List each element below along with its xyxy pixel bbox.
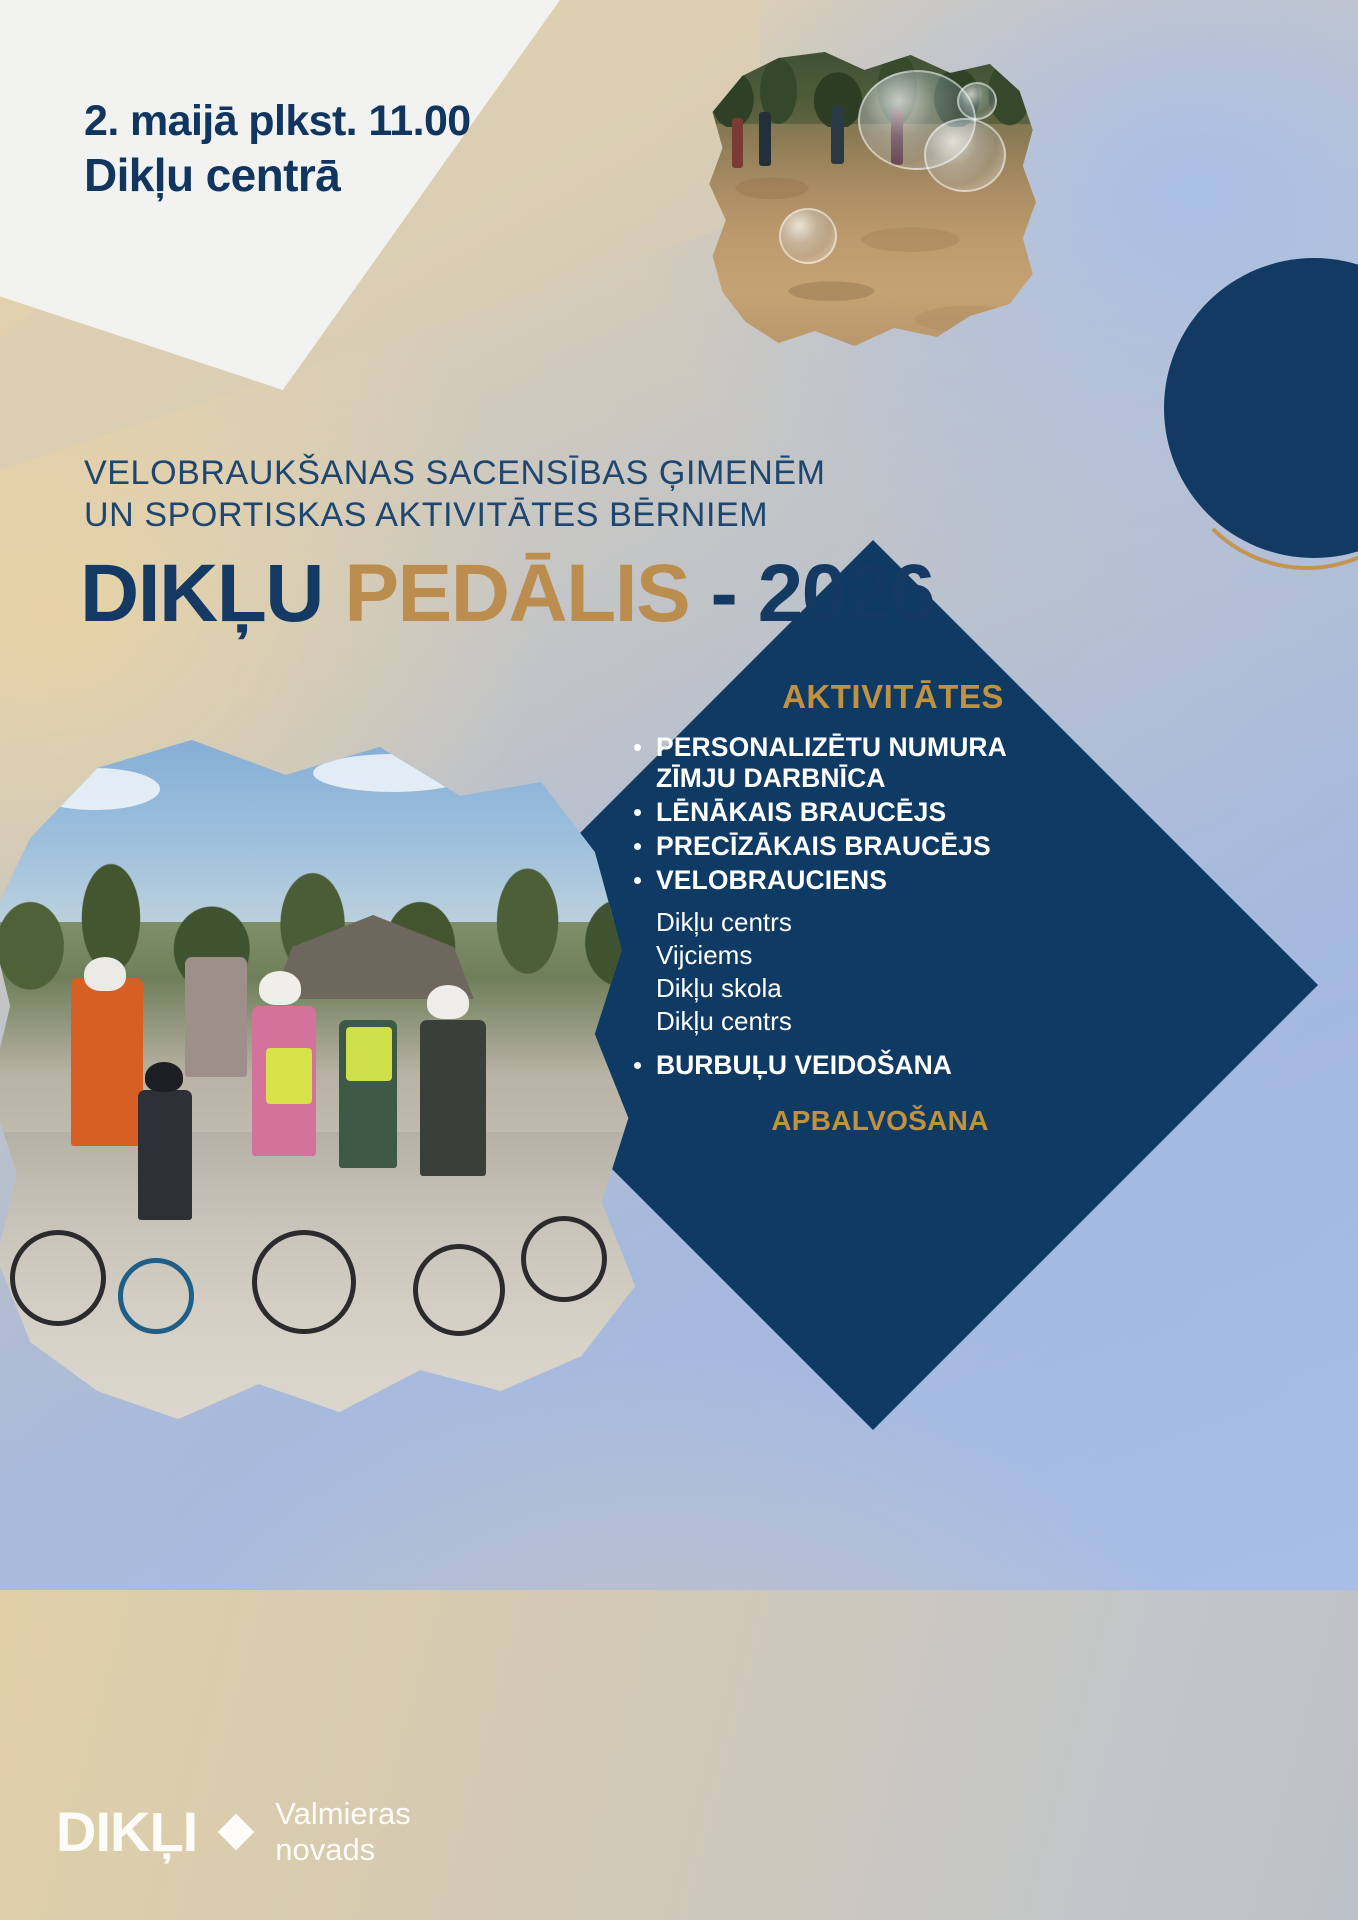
event-date-time: 2. maijā plkst. 11.00: [84, 95, 471, 147]
bullet-dot-icon: [634, 744, 641, 751]
activity-item-bubble-making-label: BURBUĻU VEIDOŠANA: [656, 1050, 952, 1080]
helmet-white-2: [259, 971, 301, 1005]
activity-item-bubble-making: BURBUĻU VEIDOŠANA: [630, 1050, 1100, 1081]
activity-item-slowest-rider: LĒNĀKAIS BRAUCĒJS: [630, 797, 1100, 828]
activities-heading: AKTIVITĀTES: [630, 678, 1100, 716]
helmet-white-3: [427, 985, 469, 1019]
activity-item-most-precise-rider: PRECĪZĀKAIS BRAUCĒJS: [630, 831, 1100, 862]
rider-adult-orange: [71, 978, 143, 1146]
activity-item-slowest-rider-label: LĒNĀKAIS BRAUCĒJS: [656, 797, 946, 827]
bubble-activity-photo: [706, 52, 1036, 352]
logo-subtitle-line2: novads: [275, 1832, 411, 1868]
event-location: Dikļu centrā: [84, 147, 471, 203]
safety-vest-yellow-2: [346, 1027, 392, 1081]
route-stop-1: Dikļu centrs: [656, 906, 1100, 939]
bicycle-wheel-3: [252, 1230, 356, 1334]
bullet-dot-icon: [634, 809, 641, 816]
rider-adult-grey: [185, 957, 247, 1077]
bullet-dot-icon: [634, 877, 641, 884]
route-stop-3: Dikļu skola: [656, 972, 1100, 1005]
logo-diamond-icon: [218, 1814, 255, 1851]
title-part-name: PEDĀLIS: [344, 548, 689, 639]
bullet-dot-icon: [634, 1062, 641, 1069]
bicycle-wheel-1: [10, 1230, 106, 1326]
title-part-year: - 2026: [689, 548, 934, 639]
photo-person-2: [831, 106, 844, 164]
subtitle-line-1: VELOBRAUKŠANAS SACENSĪBAS ĢIMENĒM: [84, 452, 826, 494]
rider-child-1: [138, 1090, 192, 1220]
activity-item-bike-ride: VELOBRAUCIENS: [630, 865, 1100, 896]
activity-item-workshop-line1: PERSONALIZĒTU NUMURA: [656, 732, 1007, 762]
soap-bubble-small: [779, 208, 837, 264]
bicycle-wheel-4: [413, 1244, 505, 1336]
poster-canvas: 2. maijā plkst. 11.00 Dikļu centrā VELOB…: [0, 0, 1358, 1920]
safety-vest-yellow-1: [266, 1048, 312, 1104]
bike-ride-photo: [0, 740, 662, 1440]
subtitle-line-2: UN SPORTISKAS AKTIVITĀTES BĒRNIEM: [84, 494, 826, 536]
event-header: 2. maijā plkst. 11.00 Dikļu centrā: [84, 95, 471, 203]
bicycle-wheel-2: [118, 1258, 194, 1334]
activities-list: PERSONALIZĒTU NUMURA ZĪMJU DARBNĪCA LĒNĀ…: [630, 732, 1100, 896]
activities-content: AKTIVITĀTES PERSONALIZĒTU NUMURA ZĪMJU D…: [630, 678, 1100, 1137]
title-part-place: DIKĻU: [80, 548, 344, 639]
route-stop-4: Dikļu centrs: [656, 1005, 1100, 1038]
helmet-white-1: [84, 957, 126, 991]
rider-camo-jacket: [420, 1020, 486, 1176]
activity-item-workshop-line2: ZĪMJU DARBNĪCA: [656, 763, 886, 793]
activity-item-most-precise-rider-label: PRECĪZĀKAIS BRAUCĒJS: [656, 831, 991, 861]
helmet-dark-child: [145, 1062, 183, 1092]
event-subtitle: VELOBRAUKŠANAS SACENSĪBAS ĢIMENĒM UN SPO…: [84, 452, 826, 536]
logo-subtitle-line1: Valmieras: [275, 1796, 411, 1832]
photo-person-4: [732, 118, 743, 168]
bottom-beige-band: [0, 1590, 1358, 1920]
soap-bubble-medium: [924, 118, 1006, 192]
page-title: DIKĻU PEDĀLIS - 2026: [80, 548, 934, 640]
logo-subtitle: Valmieras novads: [275, 1796, 411, 1868]
bullet-dot-icon: [634, 843, 641, 850]
soap-bubble-tiny: [957, 82, 997, 120]
bicycle-wheel-5: [521, 1216, 607, 1302]
municipality-logo: DIKĻI Valmieras novads: [56, 1796, 411, 1868]
activity-item-bike-ride-label: VELOBRAUCIENS: [656, 865, 887, 895]
bike-route-list: Dikļu centrs Vijciems Dikļu skola Dikļu …: [656, 906, 1100, 1038]
award-ceremony-label: APBALVOŠANA: [630, 1105, 1100, 1137]
logo-wordmark: DIKĻI: [56, 1804, 197, 1860]
activity-item-workshop: PERSONALIZĒTU NUMURA ZĪMJU DARBNĪCA: [630, 732, 1100, 794]
photo-person-1: [759, 112, 771, 166]
route-stop-2: Vijciems: [656, 939, 1100, 972]
